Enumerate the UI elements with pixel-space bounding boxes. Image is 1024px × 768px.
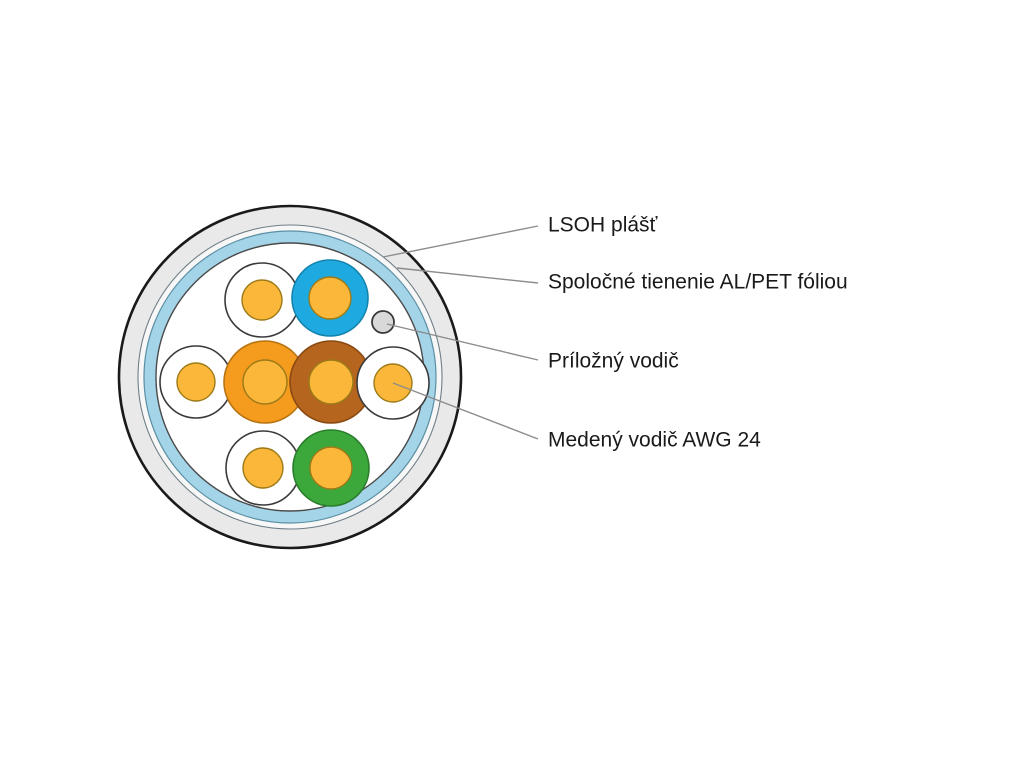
conductor-orange-copper-core xyxy=(243,360,287,404)
conductor-blue-copper-core xyxy=(309,277,351,319)
cable-cross-section-diagram: LSOH plášťSpoločné tienenie AL/PET fólio… xyxy=(0,0,1024,768)
leader-line-lsoh xyxy=(383,226,538,257)
cable-diagram-canvas: LSOH plášťSpoločné tienenie AL/PET fólio… xyxy=(0,0,1024,768)
conductor-green-copper-core xyxy=(310,447,352,489)
conductor-orange-white-copper-core xyxy=(177,363,215,401)
conductor-blue xyxy=(292,260,368,336)
conductor-green-white xyxy=(226,431,300,505)
drain-wire xyxy=(372,311,394,333)
label-lsoh-jacket: LSOH plášť xyxy=(548,214,659,237)
label-copper-conductor: Medený vodič AWG 24 xyxy=(548,429,761,452)
labels-group: LSOH plášťSpoločné tienenie AL/PET fólio… xyxy=(548,214,848,452)
conductor-brown-copper-core xyxy=(309,360,353,404)
drain-wire-group xyxy=(372,311,394,333)
conductor-blue-white xyxy=(225,263,299,337)
conductor-orange-white xyxy=(160,346,232,418)
conductor-green xyxy=(293,430,369,506)
conductor-blue-white-copper-core xyxy=(242,280,282,320)
conductor-green-white-copper-core xyxy=(243,448,283,488)
label-drain-wire: Príložný vodič xyxy=(548,350,679,373)
label-alpet-shield: Spoločné tienenie AL/PET fóliou xyxy=(548,271,848,294)
